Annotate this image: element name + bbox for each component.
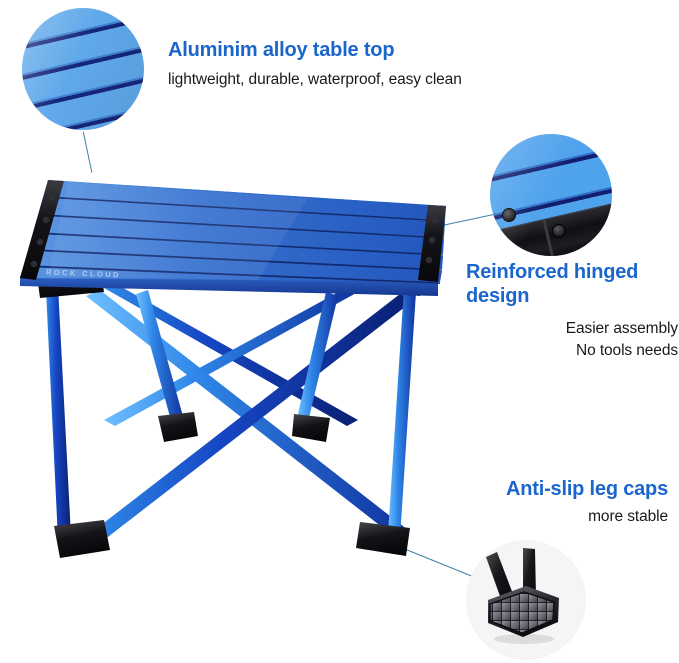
inset-tabletop-closeup [22, 8, 144, 130]
callout-aluminum-top: Aluminim alloy table top lightweight, du… [168, 38, 462, 91]
callout-subtitle-aluminum-top: lightweight, durable, waterproof, easy c… [168, 69, 462, 91]
callout-subtitle-line: Easier assembly [466, 318, 678, 340]
product-illustration-folding-table: ROCK CLOUD [8, 168, 468, 568]
callout-subtitle-leg-caps: more stable [440, 506, 668, 528]
gloss-overlay [22, 8, 144, 130]
callout-title-leg-caps: Anti-slip leg caps [440, 477, 668, 501]
callout-title-aluminum-top: Aluminim alloy table top [168, 38, 462, 62]
table-frame [36, 264, 424, 558]
infographic-canvas: Aluminim alloy table top lightweight, du… [0, 0, 679, 663]
callout-subtitle-group-hinged: Easier assembly No tools needs [466, 318, 678, 362]
table-svg [8, 168, 468, 568]
inset-legcap-closeup [466, 540, 586, 660]
callout-subtitle-line: No tools needs [466, 340, 678, 362]
callout-leg-caps: Anti-slip leg caps more stable [440, 477, 668, 528]
table-top [20, 180, 446, 296]
gloss-overlay [490, 134, 612, 256]
connector-line-tabletop [82, 132, 92, 173]
legcap-illustration [466, 540, 586, 660]
callout-hinged-design: Reinforced hinged design Easier assembly… [466, 260, 678, 362]
callout-title-hinged-design: Reinforced hinged design [466, 260, 678, 309]
inset-hinge-closeup [490, 134, 612, 256]
